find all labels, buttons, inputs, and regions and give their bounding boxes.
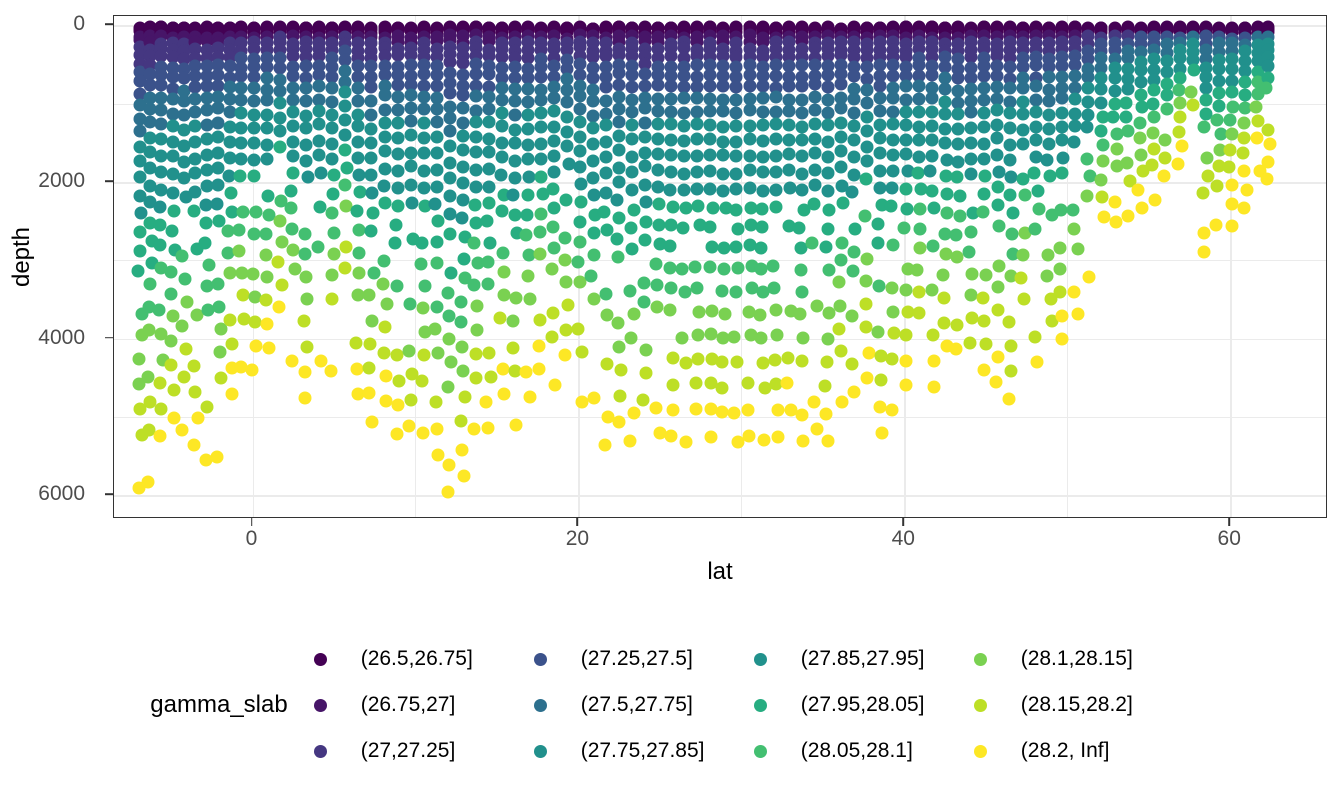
data-point bbox=[432, 215, 445, 228]
legend-item[interactable]: (27.85,27.95] bbox=[754, 636, 966, 682]
legend-item[interactable]: (27.75,27.85] bbox=[534, 728, 746, 774]
data-point bbox=[639, 344, 652, 357]
data-point bbox=[191, 411, 204, 424]
data-point bbox=[1017, 249, 1030, 262]
data-point bbox=[678, 119, 691, 132]
data-point bbox=[468, 423, 481, 436]
data-point bbox=[325, 365, 338, 378]
data-point bbox=[795, 149, 808, 162]
data-point bbox=[378, 130, 391, 143]
data-point bbox=[834, 299, 847, 312]
data-point bbox=[391, 91, 404, 104]
data-point bbox=[886, 352, 899, 365]
data-point bbox=[873, 92, 886, 105]
data-point bbox=[403, 420, 416, 433]
data-point bbox=[314, 355, 327, 368]
data-point bbox=[1197, 186, 1210, 199]
data-point bbox=[1119, 96, 1132, 109]
data-point bbox=[847, 150, 860, 163]
data-point bbox=[250, 339, 263, 352]
data-point bbox=[613, 175, 626, 188]
data-point bbox=[469, 90, 482, 103]
data-point bbox=[574, 130, 587, 143]
data-point bbox=[378, 179, 391, 192]
data-point bbox=[715, 284, 728, 297]
legend-item[interactable]: (27.5,27.75] bbox=[534, 682, 746, 728]
data-point bbox=[743, 119, 756, 132]
data-point bbox=[340, 241, 353, 254]
data-point bbox=[836, 197, 849, 210]
data-point bbox=[821, 355, 834, 368]
data-point bbox=[899, 379, 912, 392]
data-point bbox=[1056, 106, 1069, 119]
data-point bbox=[691, 182, 704, 195]
scatter-plot-figure: depth 0200040006000 0204060 lat gamma_sl… bbox=[0, 0, 1344, 806]
data-point bbox=[808, 146, 821, 159]
data-point bbox=[365, 151, 378, 164]
data-point bbox=[547, 135, 560, 148]
data-point bbox=[328, 248, 341, 261]
data-point bbox=[953, 189, 966, 202]
data-point bbox=[455, 295, 468, 308]
data-point bbox=[925, 284, 938, 297]
data-point bbox=[571, 255, 584, 268]
data-point bbox=[952, 156, 965, 169]
data-point bbox=[613, 390, 626, 403]
data-point bbox=[835, 236, 848, 249]
data-point bbox=[443, 87, 456, 100]
data-point bbox=[508, 136, 521, 149]
data-point bbox=[1212, 62, 1225, 75]
data-point bbox=[977, 188, 990, 201]
data-point bbox=[678, 285, 691, 298]
data-point bbox=[482, 103, 495, 116]
legend-item-label: (26.75,27] bbox=[361, 693, 456, 717]
data-point bbox=[179, 272, 192, 285]
data-point bbox=[587, 227, 600, 240]
data-point bbox=[378, 89, 391, 102]
data-point bbox=[886, 91, 899, 104]
data-point bbox=[822, 332, 835, 345]
data-point bbox=[534, 153, 547, 166]
data-point bbox=[470, 323, 483, 336]
data-point bbox=[585, 269, 598, 282]
data-point bbox=[612, 316, 625, 329]
legend-item[interactable]: (26.5,26.75] bbox=[314, 636, 526, 682]
data-point bbox=[978, 138, 991, 151]
data-point bbox=[546, 182, 559, 195]
data-point bbox=[365, 416, 378, 429]
data-point bbox=[941, 206, 954, 219]
data-point bbox=[808, 163, 821, 176]
data-point bbox=[860, 84, 873, 97]
data-point bbox=[860, 298, 873, 311]
data-point bbox=[365, 122, 378, 135]
data-point bbox=[287, 106, 300, 119]
legend-item[interactable]: (28.15,28.2] bbox=[974, 682, 1186, 728]
plot-panel-wrapper bbox=[113, 15, 1327, 518]
data-point bbox=[689, 376, 702, 389]
data-point bbox=[456, 160, 469, 173]
data-point bbox=[730, 120, 743, 133]
data-point bbox=[755, 263, 768, 276]
data-point bbox=[978, 93, 991, 106]
data-point bbox=[600, 80, 613, 93]
data-point bbox=[834, 145, 847, 158]
data-point bbox=[365, 108, 378, 121]
data-point bbox=[456, 143, 469, 156]
data-point bbox=[1017, 138, 1030, 151]
data-point bbox=[665, 166, 678, 179]
data-point bbox=[822, 264, 835, 277]
data-point bbox=[1030, 59, 1043, 72]
data-point bbox=[1056, 121, 1069, 134]
data-point bbox=[378, 145, 391, 158]
data-point bbox=[899, 148, 912, 161]
data-point bbox=[624, 332, 637, 345]
data-point bbox=[455, 415, 468, 428]
data-point bbox=[587, 94, 600, 107]
data-point bbox=[834, 102, 847, 115]
data-point bbox=[248, 154, 261, 167]
data-point bbox=[456, 116, 469, 129]
data-point bbox=[301, 171, 314, 184]
data-point bbox=[652, 117, 665, 130]
data-point bbox=[274, 112, 287, 125]
data-point bbox=[416, 301, 429, 314]
data-point bbox=[562, 299, 575, 312]
data-point bbox=[456, 364, 469, 377]
data-point bbox=[717, 262, 730, 275]
data-point bbox=[1080, 152, 1093, 165]
data-point bbox=[1147, 110, 1160, 123]
legend-title: gamma_slab bbox=[150, 691, 287, 719]
data-point bbox=[155, 402, 168, 415]
data-point bbox=[1121, 209, 1134, 222]
data-point bbox=[1173, 96, 1186, 109]
data-point bbox=[234, 169, 247, 182]
data-point bbox=[338, 179, 351, 192]
data-point bbox=[795, 59, 808, 72]
data-point bbox=[952, 84, 965, 97]
data-point bbox=[793, 222, 806, 235]
data-point bbox=[666, 378, 679, 391]
data-point bbox=[939, 136, 952, 149]
data-point bbox=[546, 221, 559, 234]
data-point bbox=[691, 133, 704, 146]
legend-item[interactable]: (27.95,28.05] bbox=[754, 682, 966, 728]
legend-item[interactable]: (28.05,28.1] bbox=[754, 728, 966, 774]
data-point bbox=[860, 141, 873, 154]
legend-item[interactable]: (27.25,27.5] bbox=[534, 636, 746, 682]
data-point bbox=[1121, 83, 1134, 96]
data-point bbox=[443, 111, 456, 124]
data-point bbox=[166, 186, 179, 199]
data-point bbox=[363, 288, 376, 301]
data-point bbox=[469, 180, 482, 193]
data-point bbox=[1109, 216, 1122, 229]
data-point bbox=[821, 435, 834, 448]
data-point bbox=[1226, 100, 1239, 113]
data-point bbox=[391, 164, 404, 177]
data-point bbox=[886, 117, 899, 130]
data-point bbox=[469, 67, 482, 80]
data-point bbox=[937, 269, 950, 282]
data-point bbox=[533, 225, 546, 238]
data-point bbox=[376, 277, 389, 290]
data-point bbox=[886, 239, 899, 252]
data-point bbox=[653, 198, 666, 211]
data-point bbox=[430, 131, 443, 144]
data-point bbox=[1095, 97, 1108, 110]
data-point bbox=[845, 310, 858, 323]
data-point bbox=[1095, 82, 1108, 95]
x-axis-title: lat bbox=[113, 558, 1327, 586]
legend-item[interactable]: (28.2, Inf] bbox=[974, 728, 1186, 774]
data-point bbox=[391, 182, 404, 195]
legend-column: (28.1,28.15](28.15,28.2](28.2, Inf] bbox=[974, 636, 1186, 774]
data-point bbox=[327, 188, 340, 201]
data-point bbox=[299, 228, 312, 241]
data-point bbox=[1211, 114, 1224, 127]
data-point bbox=[534, 137, 547, 150]
data-point bbox=[626, 166, 639, 179]
data-point bbox=[313, 80, 326, 93]
data-point bbox=[900, 183, 913, 196]
data-point bbox=[886, 133, 899, 146]
data-point bbox=[965, 106, 978, 119]
data-point bbox=[939, 123, 952, 136]
data-point bbox=[534, 314, 547, 327]
data-point bbox=[989, 375, 1002, 388]
data-point bbox=[548, 241, 561, 254]
data-point bbox=[273, 215, 286, 228]
data-point bbox=[611, 250, 624, 263]
data-point bbox=[261, 122, 274, 135]
data-point bbox=[391, 104, 404, 117]
data-point bbox=[1197, 120, 1210, 133]
data-point bbox=[991, 351, 1004, 364]
data-point bbox=[507, 315, 520, 328]
data-point bbox=[926, 328, 939, 341]
data-point bbox=[213, 346, 226, 359]
data-point bbox=[1224, 113, 1237, 126]
data-point bbox=[482, 421, 495, 434]
x-tick-label: 0 bbox=[246, 527, 258, 551]
data-point bbox=[1262, 123, 1275, 136]
data-point bbox=[223, 313, 236, 326]
data-point bbox=[175, 250, 188, 263]
data-point bbox=[873, 79, 886, 92]
legend-item-label: (28.15,28.2] bbox=[1021, 693, 1133, 717]
data-point bbox=[402, 344, 415, 357]
data-point bbox=[1161, 89, 1174, 102]
data-point bbox=[469, 116, 482, 129]
x-tick-mark bbox=[1228, 518, 1230, 526]
data-point bbox=[1094, 174, 1107, 187]
data-point bbox=[704, 164, 717, 177]
data-point bbox=[885, 403, 898, 416]
data-point bbox=[404, 115, 417, 128]
data-point bbox=[442, 459, 455, 472]
data-point bbox=[482, 132, 495, 145]
data-point bbox=[300, 109, 313, 122]
data-point bbox=[417, 164, 430, 177]
data-point bbox=[210, 197, 223, 210]
data-point bbox=[393, 375, 406, 388]
data-point bbox=[546, 331, 559, 344]
data-point bbox=[664, 430, 677, 443]
data-point bbox=[1004, 339, 1017, 352]
data-point bbox=[286, 243, 299, 256]
data-point bbox=[1238, 165, 1251, 178]
data-point bbox=[678, 134, 691, 147]
data-point bbox=[535, 208, 548, 221]
legend-swatch-dot-icon bbox=[534, 653, 547, 666]
data-point bbox=[1236, 146, 1249, 159]
data-point bbox=[1145, 159, 1158, 172]
data-point bbox=[134, 245, 147, 258]
data-point bbox=[1067, 135, 1080, 148]
data-point bbox=[326, 82, 339, 95]
y-tick-mark bbox=[105, 337, 113, 339]
data-point bbox=[417, 116, 430, 129]
data-point bbox=[755, 242, 768, 255]
data-point bbox=[666, 404, 679, 417]
data-point bbox=[676, 262, 689, 275]
data-point bbox=[1237, 131, 1250, 144]
legend-swatch-dot-icon bbox=[754, 745, 767, 758]
data-point bbox=[900, 329, 913, 342]
data-point bbox=[993, 260, 1006, 273]
data-point bbox=[665, 148, 678, 161]
data-point bbox=[1097, 138, 1110, 151]
data-point bbox=[652, 163, 665, 176]
data-point bbox=[482, 145, 495, 158]
data-point bbox=[274, 124, 287, 137]
data-point bbox=[144, 277, 157, 290]
data-point bbox=[626, 69, 639, 82]
data-point bbox=[1171, 157, 1184, 170]
data-point bbox=[339, 86, 352, 99]
data-point bbox=[899, 118, 912, 131]
data-point bbox=[770, 200, 783, 213]
data-point bbox=[1004, 121, 1017, 134]
data-point bbox=[1071, 242, 1084, 255]
data-point bbox=[1004, 107, 1017, 120]
data-point bbox=[506, 341, 519, 354]
data-point bbox=[188, 360, 201, 373]
data-point bbox=[703, 220, 716, 233]
data-point bbox=[965, 121, 978, 134]
data-point bbox=[796, 434, 809, 447]
data-point bbox=[991, 148, 1004, 161]
data-point bbox=[287, 120, 300, 133]
data-point bbox=[443, 140, 456, 153]
data-point bbox=[467, 237, 480, 250]
data-point bbox=[300, 292, 313, 305]
data-point bbox=[743, 79, 756, 92]
data-point bbox=[769, 183, 782, 196]
data-point bbox=[900, 203, 913, 216]
data-point bbox=[326, 122, 339, 135]
data-point bbox=[1184, 86, 1197, 99]
data-point bbox=[1041, 153, 1054, 166]
data-point bbox=[497, 247, 510, 260]
data-point bbox=[364, 224, 377, 237]
data-point bbox=[821, 80, 834, 93]
data-point bbox=[1069, 93, 1082, 106]
data-point bbox=[521, 152, 534, 165]
data-point bbox=[559, 348, 572, 361]
data-point bbox=[899, 80, 912, 93]
data-point bbox=[429, 323, 442, 336]
data-point bbox=[432, 449, 445, 462]
data-point bbox=[587, 292, 600, 305]
data-point bbox=[352, 82, 365, 95]
data-point bbox=[667, 352, 680, 365]
data-point bbox=[442, 381, 455, 394]
legend-item[interactable]: (28.1,28.15] bbox=[974, 636, 1186, 682]
data-point bbox=[326, 137, 339, 150]
data-point bbox=[691, 118, 704, 131]
data-point bbox=[1187, 99, 1200, 112]
data-point bbox=[847, 245, 860, 258]
data-point bbox=[1198, 226, 1211, 239]
data-point bbox=[235, 93, 248, 106]
data-point bbox=[1042, 249, 1055, 262]
data-point bbox=[471, 299, 484, 312]
data-point bbox=[300, 154, 313, 167]
data-point bbox=[627, 407, 640, 420]
data-point bbox=[704, 79, 717, 92]
data-point bbox=[1054, 263, 1067, 276]
data-point bbox=[1159, 133, 1172, 146]
data-point bbox=[574, 103, 587, 116]
data-point bbox=[469, 131, 482, 144]
data-point bbox=[225, 186, 238, 199]
data-point bbox=[443, 156, 456, 169]
data-point bbox=[260, 317, 273, 330]
legend-swatch-dot-icon bbox=[314, 745, 327, 758]
data-point bbox=[690, 403, 703, 416]
data-point bbox=[808, 104, 821, 117]
data-point bbox=[1083, 271, 1096, 284]
legend-item[interactable]: (26.75,27] bbox=[314, 682, 526, 728]
data-point bbox=[164, 359, 177, 372]
data-point bbox=[547, 306, 560, 319]
data-point bbox=[1043, 71, 1056, 84]
data-point bbox=[443, 332, 456, 345]
data-point bbox=[639, 146, 652, 159]
data-point bbox=[875, 427, 888, 440]
data-point bbox=[1031, 184, 1044, 197]
data-point bbox=[938, 317, 951, 330]
data-point bbox=[717, 121, 730, 134]
data-point bbox=[782, 79, 795, 92]
data-point bbox=[1225, 219, 1238, 232]
data-point bbox=[547, 202, 560, 215]
data-point bbox=[624, 285, 637, 298]
legend-item[interactable]: (27,27.25] bbox=[314, 728, 526, 774]
data-point bbox=[963, 336, 976, 349]
data-point bbox=[325, 292, 338, 305]
data-point bbox=[691, 105, 704, 118]
data-point bbox=[1004, 171, 1017, 184]
data-point bbox=[482, 163, 495, 176]
data-point bbox=[1017, 123, 1030, 136]
data-point bbox=[300, 95, 313, 108]
